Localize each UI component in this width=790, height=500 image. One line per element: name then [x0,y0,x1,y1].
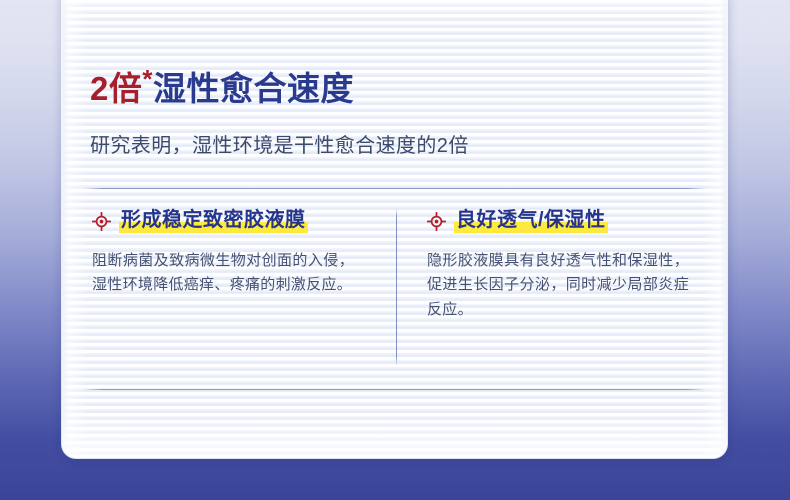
headline-main: 湿性愈合速度 [153,70,354,107]
promo-banner: 2倍*湿性愈合速度 研究表明，湿性环境是干性愈合速度的2倍 [0,0,790,500]
feature-block-left: 形成稳定致密胶液膜 阻断病菌及致病微生物对创面的入侵，湿性环境降低癌痒、疼痛的刺… [92,210,382,298]
feature-left-title-wrap: 形成稳定致密胶液膜 [119,210,308,233]
feature-block-right: 良好透气/保湿性 隐形胶液膜具有良好透气性和保湿性，促进生长因子分泌，同时减少局… [427,210,717,322]
feature-right-header: 良好透气/保湿性 [427,210,717,233]
divider-bottom [84,389,705,390]
target-icon [92,212,111,231]
feature-left-header: 形成稳定致密胶液膜 [92,210,382,233]
card-left-rail [62,0,69,458]
feature-left-title: 形成稳定致密胶液膜 [121,209,306,231]
headline-asterisk: * [142,64,153,94]
headline-accent: 2倍 [90,70,142,107]
feature-left-body: 阻断病菌及致病微生物对创面的入侵，湿性环境降低癌痒、疼痛的刺激反应。 [92,249,354,298]
target-icon [427,212,446,231]
feature-right-title: 良好透气/保湿性 [456,209,606,231]
divider-top [84,188,705,189]
divider-vertical [396,208,397,366]
content-card: 2倍*湿性愈合速度 研究表明，湿性环境是干性愈合速度的2倍 [62,0,727,458]
feature-right-body: 隐形胶液膜具有良好透气性和保湿性，促进生长因子分泌，同时减少局部炎症反应。 [427,249,689,322]
headline: 2倍*湿性愈合速度 [90,72,354,105]
card-inner: 2倍*湿性愈合速度 研究表明，湿性环境是干性愈合速度的2倍 [62,0,727,458]
feature-right-title-wrap: 良好透气/保湿性 [454,210,608,233]
subtitle: 研究表明，湿性环境是干性愈合速度的2倍 [90,129,469,158]
card-right-rail [720,0,727,458]
